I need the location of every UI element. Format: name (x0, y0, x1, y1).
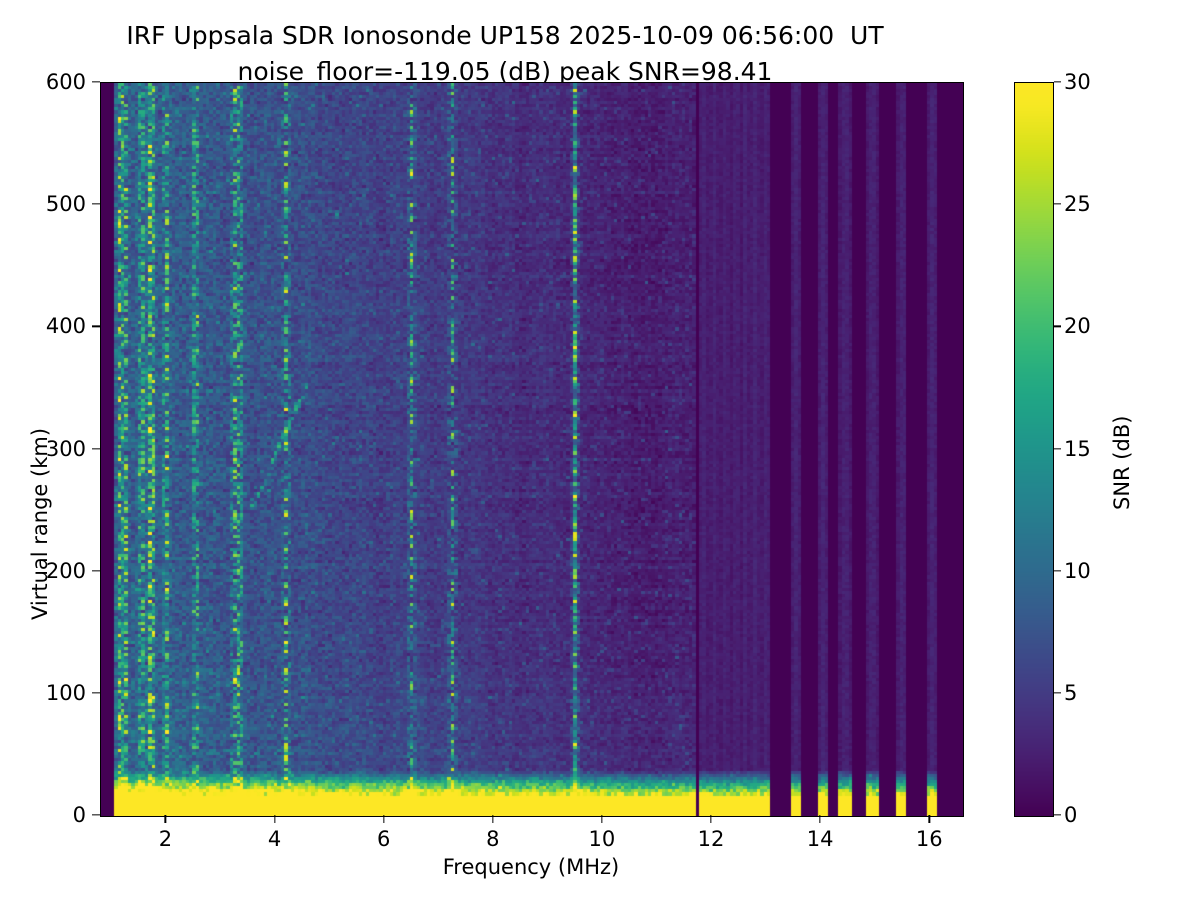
y-tick-mark (92, 81, 100, 82)
y-tick-label: 600 (0, 70, 86, 94)
ionogram-heatmap-canvas[interactable] (101, 83, 963, 816)
colorbar-title: SNR (dB) (1110, 416, 1134, 510)
ionogram-plot-area[interactable] (100, 82, 964, 817)
colorbar-gradient (1015, 83, 1053, 816)
x-tick-mark (819, 815, 820, 823)
x-tick-label: 14 (807, 827, 834, 851)
y-tick-label: 300 (0, 437, 86, 461)
colorbar-tick-mark (1054, 814, 1061, 815)
x-axis-title: Frequency (MHz) (100, 855, 962, 879)
colorbar-tick-mark (1054, 570, 1061, 571)
x-tick-label: 6 (377, 827, 390, 851)
figure-title-line-1: IRF Uppsala SDR Ionosonde UP158 2025-10-… (0, 18, 1010, 54)
y-tick-mark (92, 204, 100, 205)
y-tick-label: 400 (0, 314, 86, 338)
x-tick-mark (383, 815, 384, 823)
x-tick-label: 2 (159, 827, 172, 851)
x-tick-label: 10 (589, 827, 616, 851)
x-tick-mark (601, 815, 602, 823)
y-tick-mark (92, 814, 100, 815)
colorbar-tick-mark (1054, 448, 1061, 449)
colorbar-tick-mark (1054, 692, 1061, 693)
x-tick-mark (929, 815, 930, 823)
colorbar-tick-label: 15 (1064, 437, 1091, 461)
y-tick-label: 0 (0, 803, 86, 827)
y-tick-mark (92, 448, 100, 449)
colorbar-tick-mark (1054, 81, 1061, 82)
colorbar-tick-label: 5 (1064, 681, 1077, 705)
colorbar-tick-label: 25 (1064, 192, 1091, 216)
x-tick-mark (492, 815, 493, 823)
colorbar-tick-label: 20 (1064, 314, 1091, 338)
x-tick-label: 4 (268, 827, 281, 851)
y-tick-label: 200 (0, 559, 86, 583)
x-tick-mark (274, 815, 275, 823)
y-tick-mark (92, 326, 100, 327)
colorbar[interactable] (1014, 82, 1054, 817)
x-tick-label: 16 (916, 827, 943, 851)
colorbar-tick-label: 30 (1064, 70, 1091, 94)
x-tick-mark (165, 815, 166, 823)
colorbar-tick-label: 10 (1064, 559, 1091, 583)
colorbar-tick-mark (1054, 326, 1061, 327)
y-tick-mark (92, 570, 100, 571)
y-tick-label: 100 (0, 681, 86, 705)
colorbar-tick-mark (1054, 204, 1061, 205)
colorbar-tick-label: 0 (1064, 803, 1077, 827)
x-tick-mark (710, 815, 711, 823)
y-tick-mark (92, 692, 100, 693)
x-tick-label: 12 (698, 827, 725, 851)
y-tick-label: 500 (0, 192, 86, 216)
x-tick-label: 8 (486, 827, 499, 851)
